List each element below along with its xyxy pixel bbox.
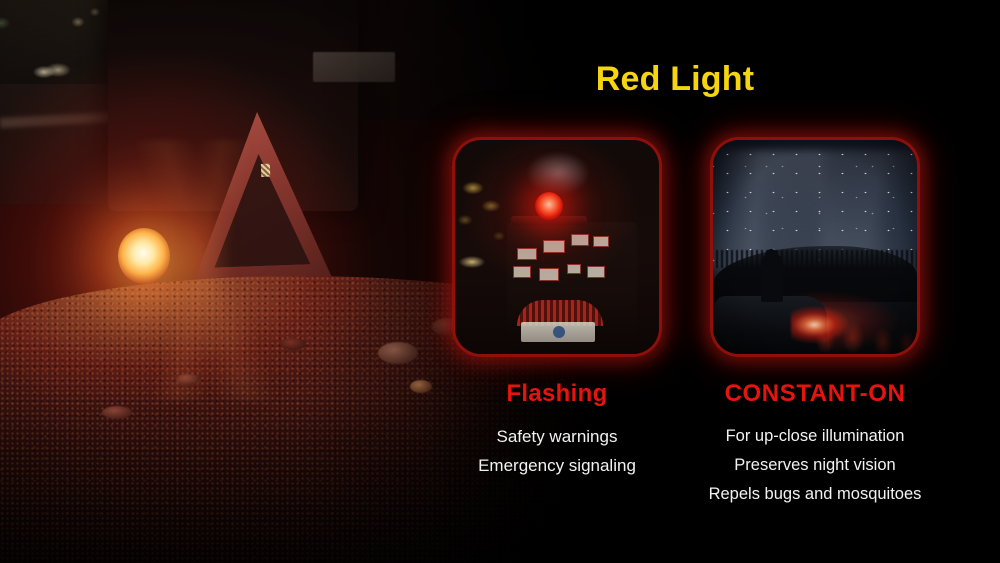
description-line: Safety warnings <box>442 422 672 451</box>
thumbnail-constant-on-image <box>713 140 917 354</box>
mode-card-list: Flashing Safety warnings Emergency signa… <box>430 0 1000 563</box>
description-line: Emergency signaling <box>442 451 672 480</box>
slide-canvas: Red Light <box>0 0 1000 563</box>
thumbnail-flashing-image <box>455 140 659 354</box>
thumb-red-glow-overlay <box>455 140 659 354</box>
content-panel: Red Light <box>430 0 1000 563</box>
mode-card-flashing[interactable]: Flashing Safety warnings Emergency signa… <box>442 140 672 480</box>
description-line: For up-close illumination <box>700 422 930 451</box>
mode-label-flashing: Flashing <box>442 380 672 408</box>
description-line: Repels bugs and mosquitoes <box>700 480 930 509</box>
mode-description-constant-on: For up-close illumination Preserves nigh… <box>700 422 930 509</box>
mode-label-constant-on: CONSTANT-ON <box>700 380 930 408</box>
thumbnail-constant-on[interactable] <box>713 140 917 354</box>
thumbnail-flashing[interactable] <box>455 140 659 354</box>
mode-card-constant-on[interactable]: CONSTANT-ON For up-close illumination Pr… <box>700 140 930 509</box>
mode-description-flashing: Safety warnings Emergency signaling <box>442 422 672 480</box>
thumb-vignette <box>713 140 917 354</box>
description-line: Preserves night vision <box>700 451 930 480</box>
